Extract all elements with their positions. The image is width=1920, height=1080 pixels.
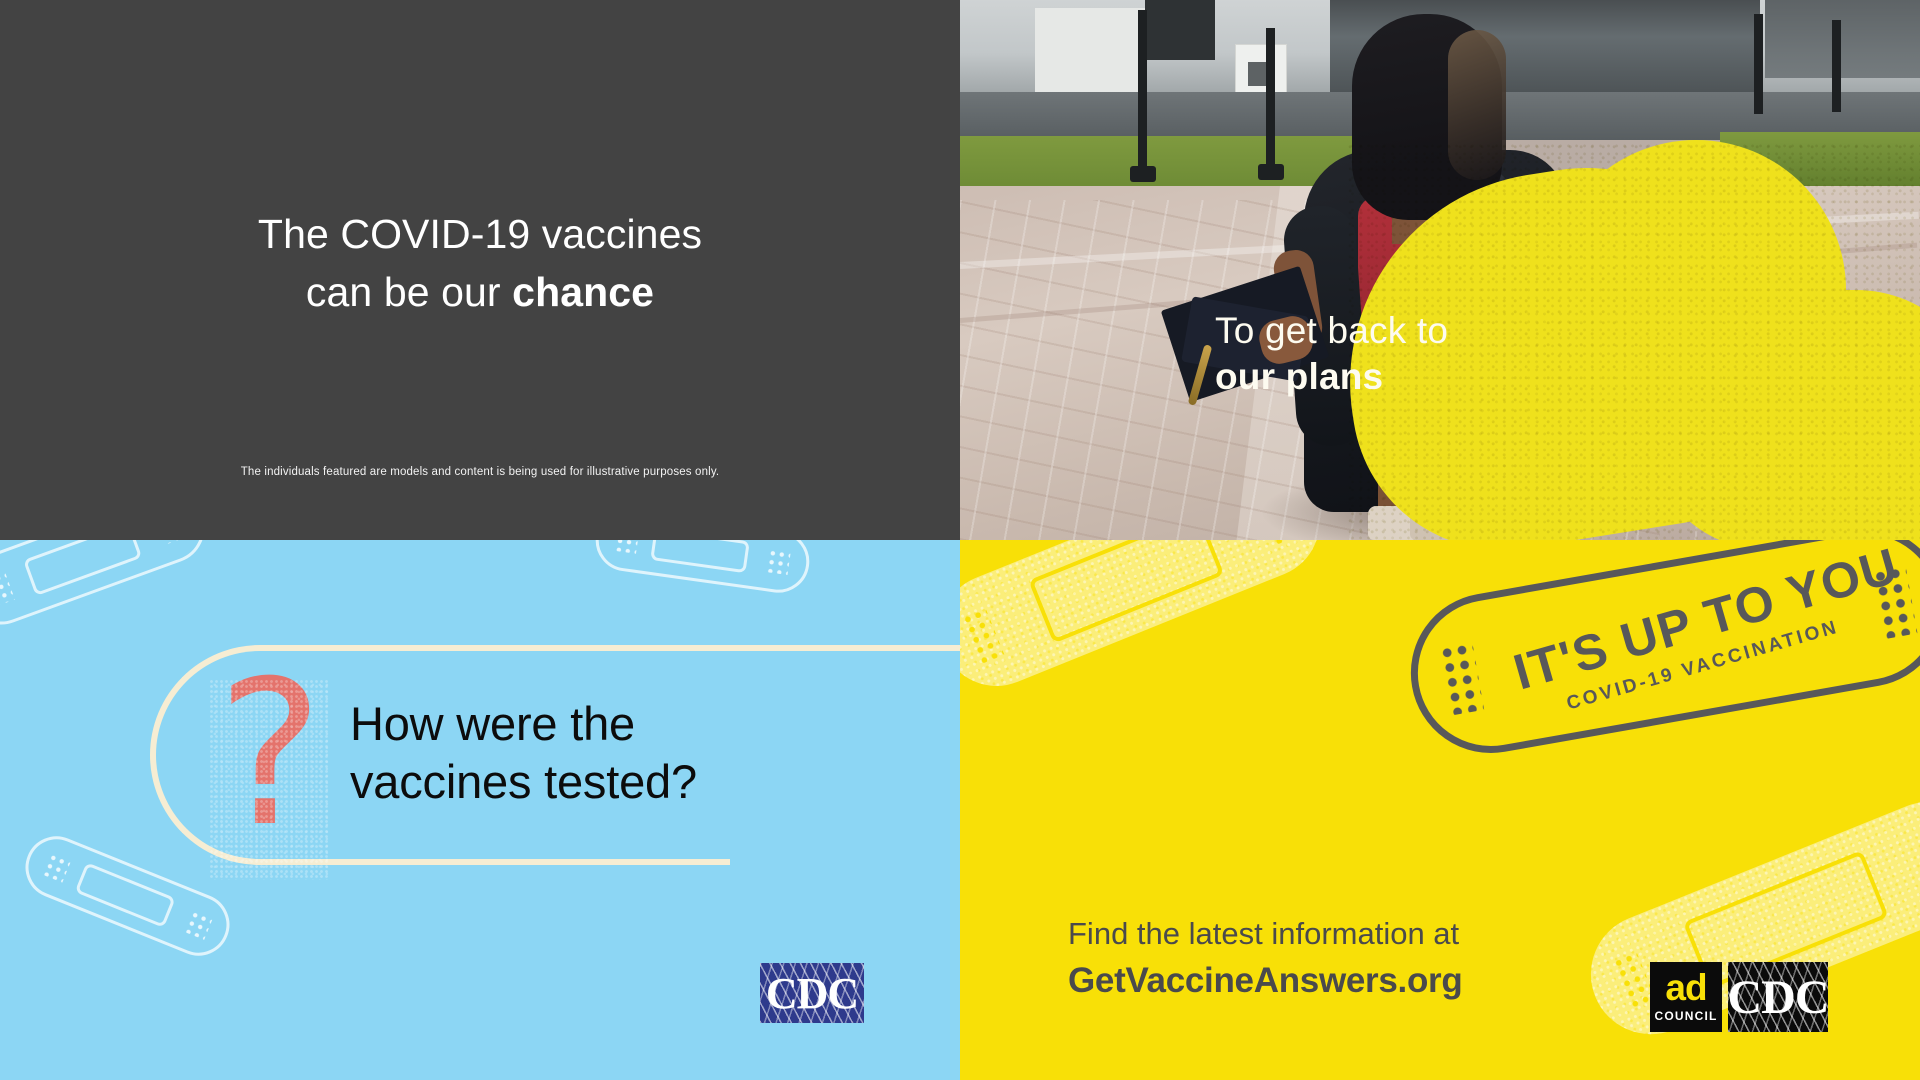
lamp-base	[1130, 166, 1156, 182]
legal-disclaimer: The individuals featured are models and …	[0, 466, 960, 478]
bandage-holes	[766, 548, 791, 575]
ad-collage: The COVID-19 vaccines can be our chance …	[0, 0, 1920, 1080]
question-copy: How were the vaccines tested?	[350, 695, 870, 811]
bandage-icon	[960, 540, 1336, 703]
ad-council-wordmark-bottom: COUNCIL	[1650, 1009, 1722, 1023]
bandage-holes	[42, 852, 72, 883]
question-mark-icon: ?	[210, 680, 330, 880]
cdc-logo[interactable]: CDC	[760, 963, 864, 1023]
headline-line-2: can be our chance	[0, 263, 960, 321]
bandage-holes	[0, 572, 14, 607]
bandage-holes	[184, 909, 214, 940]
lamp-post	[1266, 28, 1275, 168]
panel-photo	[960, 0, 1920, 540]
cdc-logo-wordmark: CDC	[760, 963, 864, 1023]
bandage-holes	[614, 540, 639, 554]
cta-copy: Find the latest information at GetVaccin…	[1068, 912, 1588, 1006]
bandage-pad	[75, 862, 176, 928]
question-frame-gap	[730, 858, 960, 872]
cdc-logo-wordmark: CDC	[1728, 962, 1828, 1032]
ad-council-wordmark-top: ad	[1650, 969, 1722, 1006]
photo-overlay-line-2: our plans	[1215, 354, 1545, 400]
cdc-logo[interactable]: CDC	[1728, 962, 1828, 1032]
panel-headline: The COVID-19 vaccines can be our chance …	[0, 0, 960, 540]
bandage-icon	[592, 540, 814, 597]
question-line-1: How were the	[350, 695, 870, 753]
bandage-pad	[23, 540, 142, 596]
glass-facade-right	[1765, 0, 1920, 78]
lamp-post	[1754, 14, 1763, 114]
cta-website-url[interactable]: GetVaccineAnswers.org	[1068, 956, 1588, 1006]
lamp-post	[1832, 20, 1841, 112]
headline-line-2-strong: chance	[512, 269, 654, 315]
headline-line-2-normal: can be our	[306, 269, 512, 315]
bandage-holes	[156, 540, 187, 544]
lamp-post	[1138, 10, 1147, 170]
bandage-pad	[651, 540, 751, 573]
its-up-to-you-badge: IT'S UP TO YOU COVID-19 VACCINATION	[1398, 540, 1920, 766]
lamp-base	[1258, 164, 1284, 180]
headline-copy: The COVID-19 vaccines can be our chance	[0, 205, 960, 321]
cta-line-1: Find the latest information at	[1068, 916, 1459, 951]
bandage-icon	[0, 540, 215, 635]
photo-overlay-line-1: To get back to	[1215, 310, 1448, 351]
dark-building-block	[1145, 0, 1215, 60]
question-line-2: vaccines tested?	[350, 753, 870, 811]
headline-line-1: The COVID-19 vaccines	[0, 205, 960, 263]
photo-overlay-copy: To get back to our plans	[1215, 308, 1545, 401]
badge-holes	[1439, 641, 1485, 716]
white-building-block	[1035, 8, 1145, 92]
ad-council-logo[interactable]: ad COUNCIL	[1650, 962, 1722, 1032]
